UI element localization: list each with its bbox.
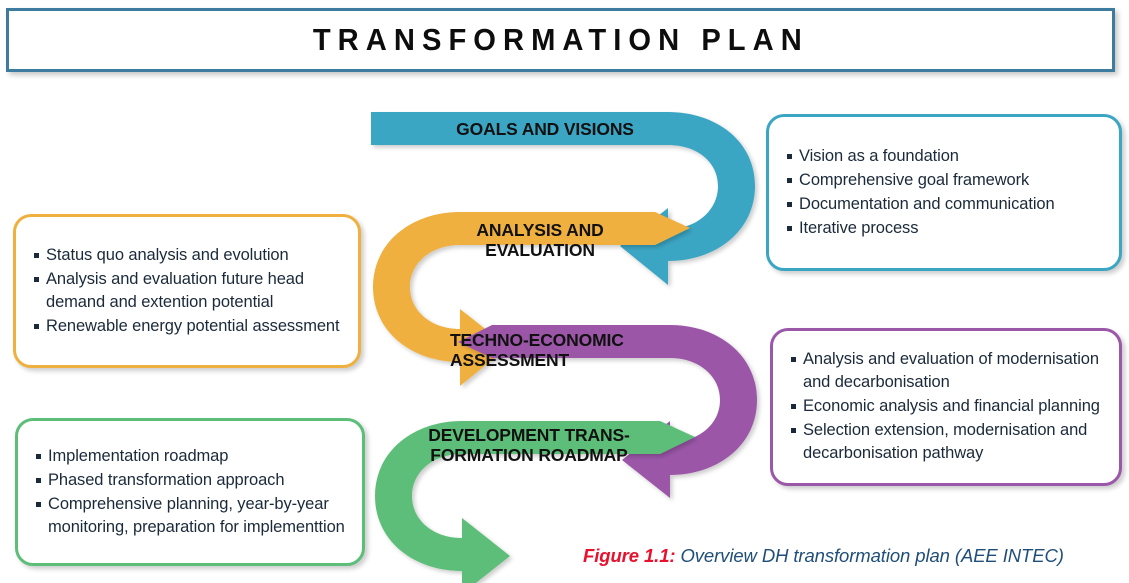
list-item: Iterative process [787, 217, 1105, 240]
detail-box-goals: Vision as a foundation Comprehensive goa… [766, 114, 1122, 271]
figure-canvas: TRANSFORMATION PLAN GOALS AND VISIONS AN… [0, 0, 1129, 583]
detail-box-roadmap: Implementation roadmap Phased transforma… [15, 418, 365, 566]
list-item: Implementation roadmap [36, 445, 348, 468]
list-item: Comprehensive goal framework [787, 169, 1105, 192]
detail-list-roadmap: Implementation roadmap Phased transforma… [18, 445, 362, 540]
list-item: Phased transformation approach [36, 469, 348, 492]
figure-number: Figure 1.1: [583, 545, 675, 566]
figure-caption-text: Overview DH transformation plan (AEE INT… [675, 545, 1063, 566]
arrow-label-roadmap: DEVELOPMENT TRANS- FORMATION ROADMAP [400, 425, 658, 465]
list-item: Renewable energy potential assessment [34, 315, 344, 338]
list-item: Selection extension, modernisation and d… [791, 419, 1105, 465]
list-item: Analysis and evaluation of modernisation… [791, 348, 1105, 394]
detail-list-analysis: Status quo analysis and evolution Analys… [16, 244, 358, 339]
list-item: Comprehensive planning, year-by-year mon… [36, 493, 348, 539]
list-item: Status quo analysis and evolution [34, 244, 344, 267]
detail-list-techno: Analysis and evaluation of modernisation… [773, 348, 1119, 466]
arrow-label-analysis: ANALYSIS AND EVALUATION [432, 220, 648, 260]
detail-box-analysis: Status quo analysis and evolution Analys… [13, 214, 361, 368]
page-title-banner: TRANSFORMATION PLAN [6, 8, 1115, 72]
list-item: Documentation and communication [787, 193, 1105, 216]
detail-list-goals: Vision as a foundation Comprehensive goa… [769, 145, 1119, 241]
list-item: Economic analysis and financial planning [791, 395, 1105, 418]
page-title: TRANSFORMATION PLAN [312, 22, 808, 58]
figure-caption: Figure 1.1: Overview DH transformation p… [583, 545, 1064, 567]
list-item: Vision as a foundation [787, 145, 1105, 168]
list-item: Analysis and evaluation future head dema… [34, 268, 344, 314]
arrow-label-techno: TECHNO-ECONOMIC ASSESSMENT [450, 330, 690, 370]
detail-box-techno: Analysis and evaluation of modernisation… [770, 328, 1122, 486]
arrow-label-goals: GOALS AND VISIONS [420, 119, 670, 139]
